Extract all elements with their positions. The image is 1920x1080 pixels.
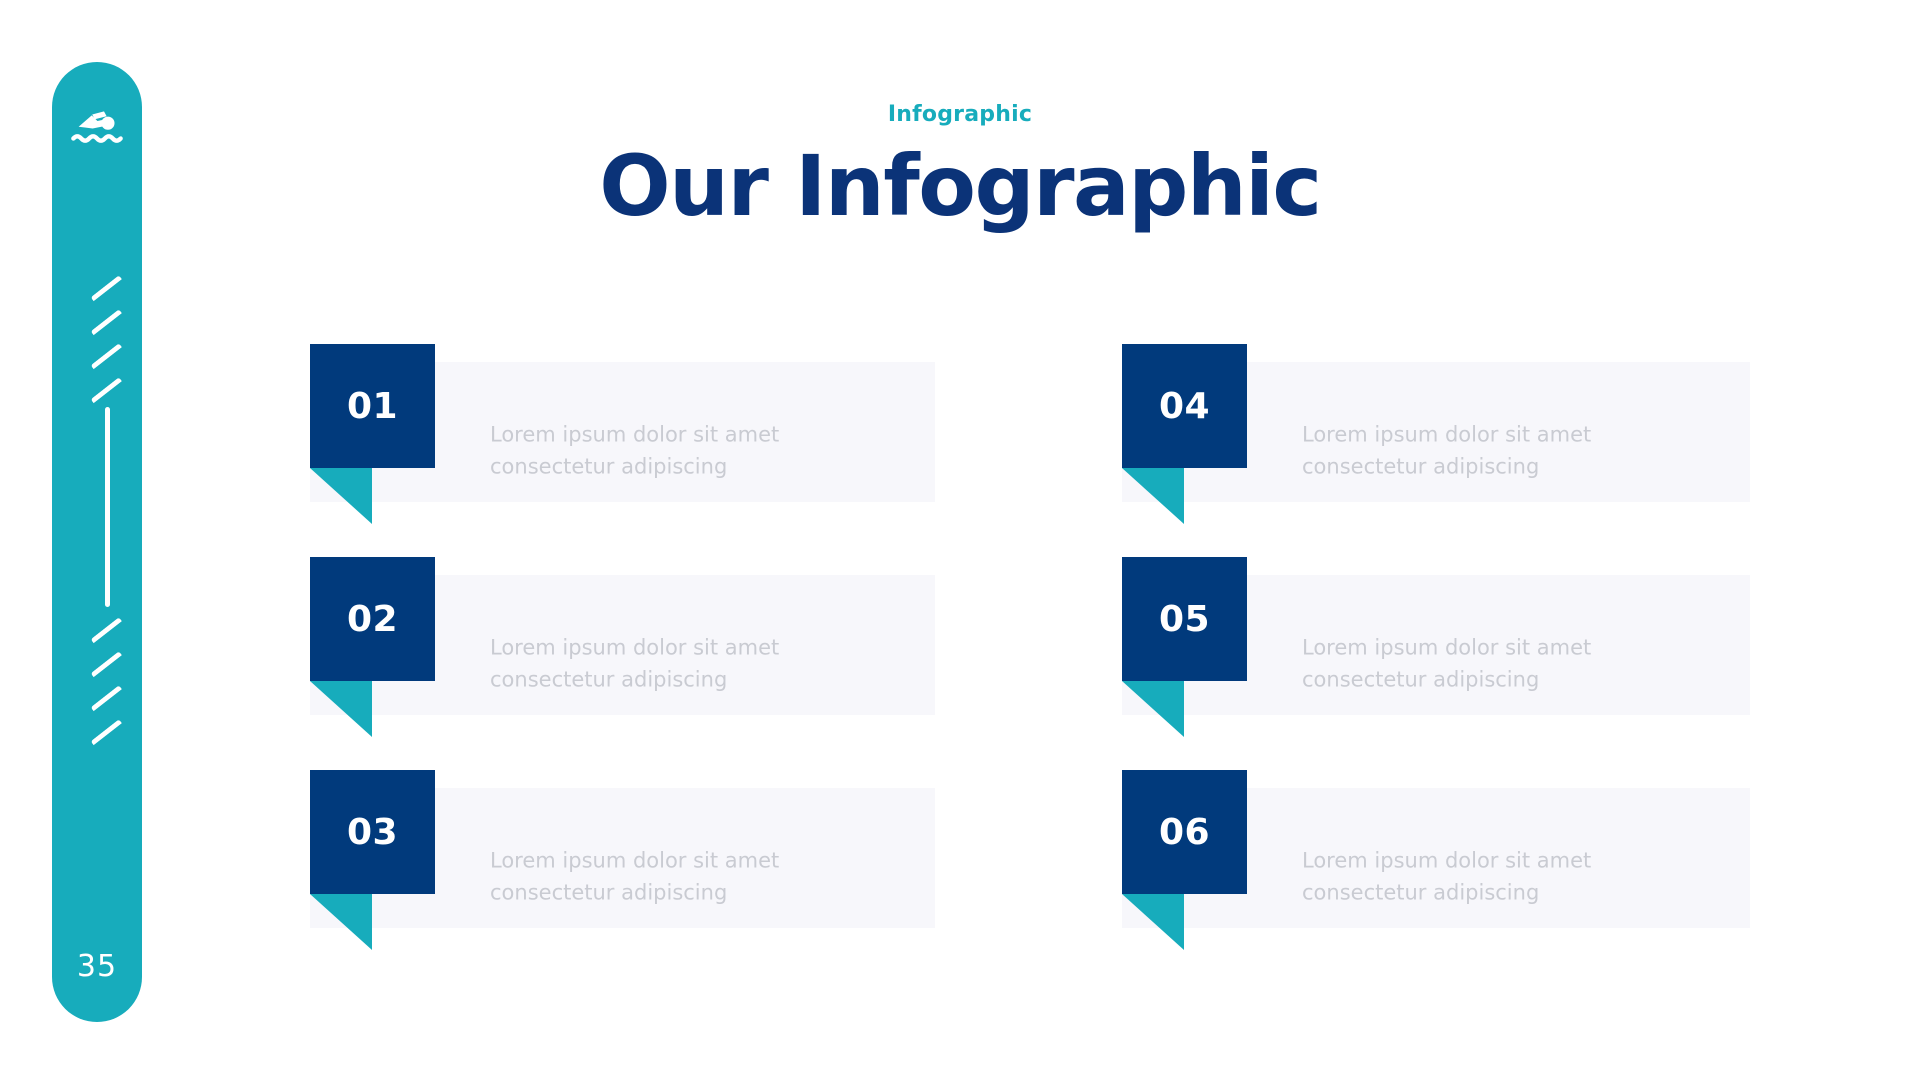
item-description: Lorem ipsum dolor sit amet consectetur a…: [1302, 418, 1632, 483]
item-description: Lorem ipsum dolor sit amet consectetur a…: [490, 631, 820, 696]
item-badge: 02: [310, 557, 435, 681]
infographic-column-right: 04 Lorem ipsum dolor sit amet consectetu…: [1122, 344, 1750, 983]
slide-header: Infographic Our Infographic: [0, 104, 1920, 228]
item-number: 05: [1159, 599, 1210, 640]
item-badge: 01: [310, 344, 435, 468]
infographic-item[interactable]: 06 Lorem ipsum dolor sit amet consectetu…: [1122, 770, 1750, 983]
slash-decoration: [75, 382, 119, 408]
sidebar-decoration-top: [75, 280, 119, 416]
sidebar-decoration-bottom: [75, 622, 119, 758]
infographic-item[interactable]: 02 Lorem ipsum dolor sit amet consectetu…: [310, 557, 935, 770]
item-badge: 05: [1122, 557, 1247, 681]
page-number: 35: [52, 949, 142, 984]
eyebrow-label: Infographic: [0, 104, 1920, 126]
item-badge: 03: [310, 770, 435, 894]
infographic-item[interactable]: 05 Lorem ipsum dolor sit amet consectetu…: [1122, 557, 1750, 770]
slash-decoration: [75, 280, 119, 306]
item-description: Lorem ipsum dolor sit amet consectetur a…: [1302, 631, 1632, 696]
slash-decoration: [75, 348, 119, 374]
slash-decoration: [75, 622, 119, 648]
item-number: 02: [347, 599, 398, 640]
infographic-column-left: 01 Lorem ipsum dolor sit amet consectetu…: [310, 344, 935, 983]
item-description: Lorem ipsum dolor sit amet consectetur a…: [1302, 844, 1632, 909]
sidebar-vertical-line: [105, 407, 110, 607]
item-number: 04: [1159, 386, 1210, 427]
item-number: 06: [1159, 812, 1210, 853]
item-description: Lorem ipsum dolor sit amet consectetur a…: [490, 418, 820, 483]
page-title: Our Infographic: [0, 144, 1920, 228]
slash-decoration: [75, 314, 119, 340]
slash-decoration: [75, 724, 119, 750]
infographic-item[interactable]: 01 Lorem ipsum dolor sit amet consectetu…: [310, 344, 935, 557]
infographic-item[interactable]: 04 Lorem ipsum dolor sit amet consectetu…: [1122, 344, 1750, 557]
item-number: 03: [347, 812, 398, 853]
item-description: Lorem ipsum dolor sit amet consectetur a…: [490, 844, 820, 909]
slash-decoration: [75, 690, 119, 716]
infographic-item[interactable]: 03 Lorem ipsum dolor sit amet consectetu…: [310, 770, 935, 983]
slash-decoration: [75, 656, 119, 682]
item-badge: 06: [1122, 770, 1247, 894]
item-badge: 04: [1122, 344, 1247, 468]
item-number: 01: [347, 386, 398, 427]
